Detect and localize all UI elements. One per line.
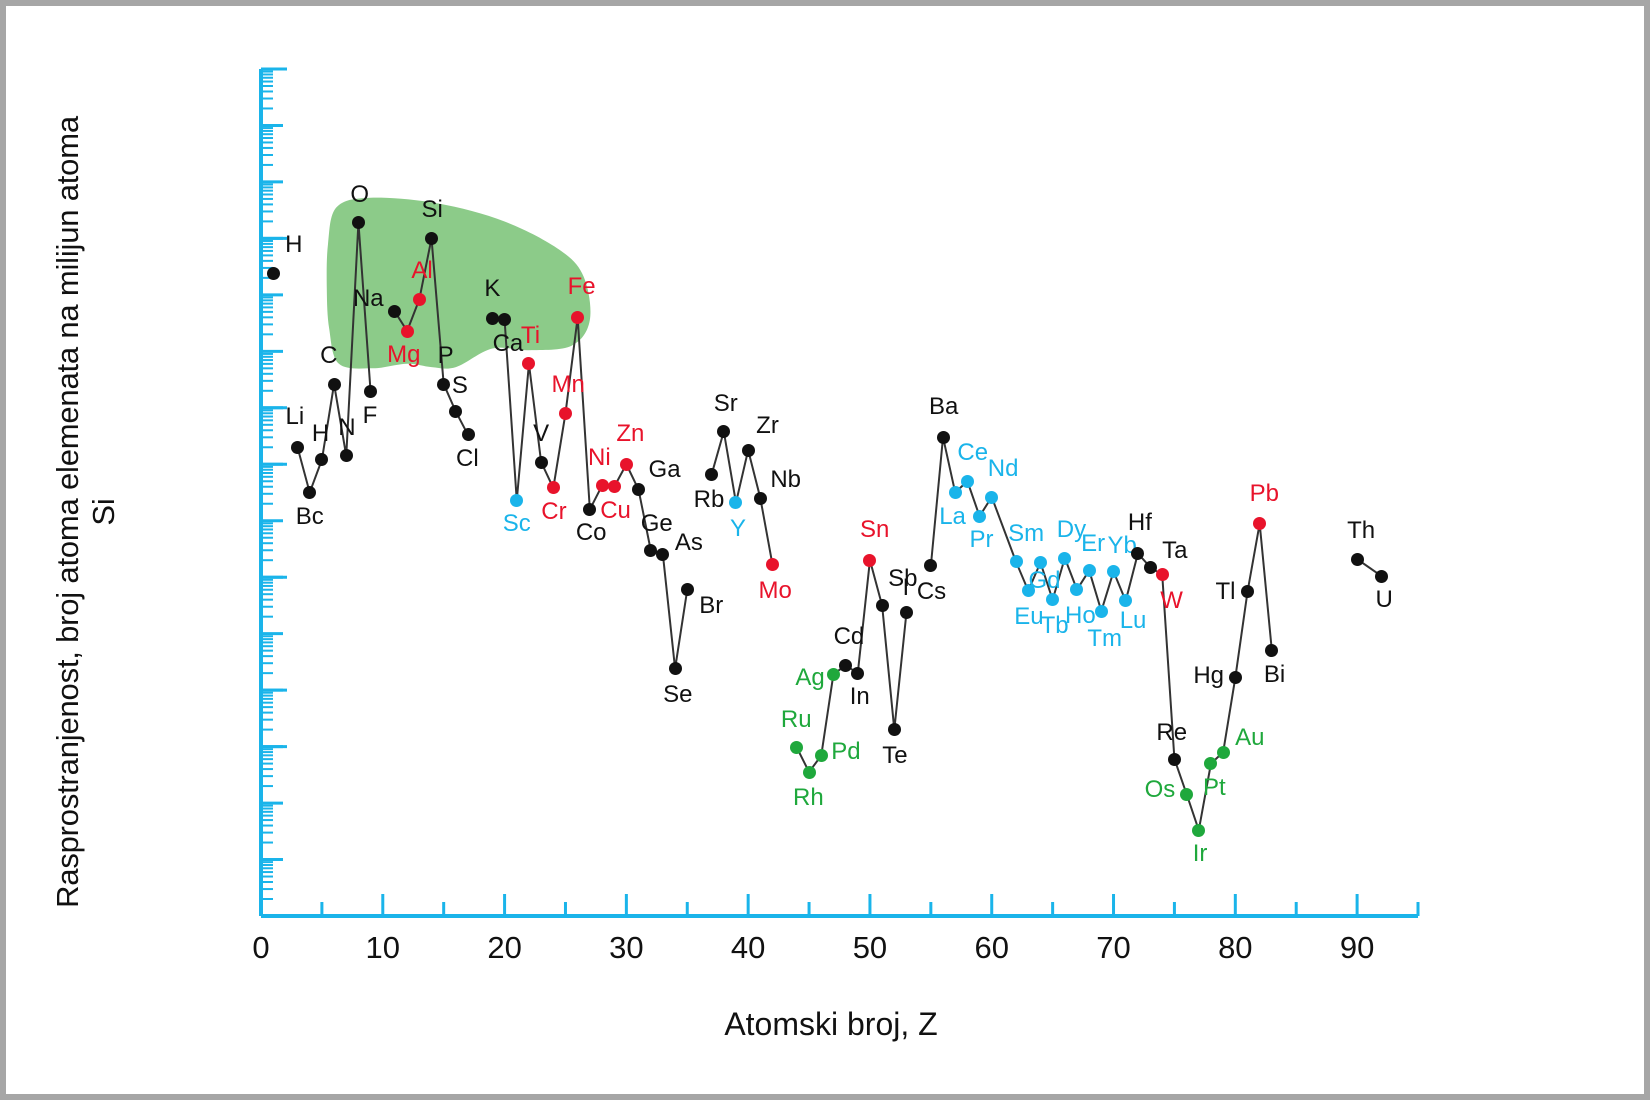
point-label-te: Te	[882, 744, 907, 768]
data-point-as	[656, 548, 669, 561]
data-point-tb	[1046, 593, 1059, 606]
point-label-sr: Sr	[714, 392, 738, 416]
data-point-cs	[924, 559, 937, 572]
data-point-ho	[1070, 583, 1083, 596]
x-tick-label: 30	[586, 930, 666, 966]
data-point-in	[851, 667, 864, 680]
point-label-au: Au	[1235, 726, 1264, 750]
data-point-ag	[827, 668, 840, 681]
data-point-zr	[742, 444, 755, 457]
data-point-yb	[1107, 565, 1120, 578]
data-point-h	[315, 453, 328, 466]
point-label-k: K	[484, 277, 500, 301]
point-label-v: V	[533, 422, 549, 446]
data-point-re	[1168, 753, 1181, 766]
point-label-ba: Ba	[929, 395, 958, 419]
data-point-cd	[839, 659, 852, 672]
point-label-as: As	[675, 531, 703, 555]
point-label-na: Na	[353, 287, 384, 311]
data-point-i	[900, 606, 913, 619]
x-tick-label: 20	[465, 930, 545, 966]
data-point-w	[1156, 568, 1169, 581]
point-label-lu: Lu	[1120, 609, 1147, 633]
point-label-eu: Eu	[1014, 605, 1043, 629]
data-point-tl	[1241, 585, 1254, 598]
point-label-ca: Ca	[493, 332, 524, 356]
point-label-u: U	[1375, 588, 1392, 612]
data-point-pt	[1204, 757, 1217, 770]
point-label-zr: Zr	[756, 414, 779, 438]
data-point-pr	[973, 510, 986, 523]
point-label-ru: Ru	[781, 708, 812, 732]
data-point-pd	[815, 749, 828, 762]
data-point-se	[669, 662, 682, 675]
data-point-lu	[1119, 594, 1132, 607]
point-label-fe: Fe	[568, 275, 596, 299]
point-label-cr: Cr	[541, 500, 566, 524]
data-point-cu	[608, 480, 621, 493]
data-point-c	[328, 378, 341, 391]
data-point-ni	[596, 479, 609, 492]
point-label-nb: Nb	[770, 468, 801, 492]
data-point-ga	[632, 483, 645, 496]
data-point-rb	[705, 468, 718, 481]
data-point-dy	[1058, 552, 1071, 565]
data-point-h	[267, 267, 280, 280]
data-point-ru	[790, 741, 803, 754]
point-label-nd: Nd	[988, 457, 1019, 481]
data-point-la	[949, 486, 962, 499]
data-point-cr	[547, 481, 560, 494]
point-label-ag: Ag	[795, 666, 824, 690]
data-point-th	[1351, 553, 1364, 566]
point-label-n: N	[338, 416, 355, 440]
data-point-v	[535, 456, 548, 469]
data-point-bc	[303, 486, 316, 499]
data-point-er	[1083, 564, 1096, 577]
data-point-li	[291, 441, 304, 454]
point-label-ce: Ce	[957, 441, 988, 465]
point-label-se: Se	[663, 683, 692, 707]
data-point-sb	[876, 599, 889, 612]
data-point-pb	[1253, 517, 1266, 530]
y-axis-title: Rasprostranjenost, broj atoma elemenata …	[50, 102, 122, 922]
data-point-os	[1180, 788, 1193, 801]
data-point-o	[352, 216, 365, 229]
data-point-hf	[1131, 547, 1144, 560]
x-tick-label: 60	[952, 930, 1032, 966]
data-point-sn	[863, 554, 876, 567]
point-label-cl: Cl	[456, 447, 479, 471]
data-point-te	[888, 723, 901, 736]
data-point-al	[413, 293, 426, 306]
point-label-ho: Ho	[1065, 604, 1096, 628]
point-label-ta: Ta	[1162, 539, 1187, 563]
point-label-la: La	[939, 505, 966, 529]
x-tick-label: 80	[1195, 930, 1275, 966]
data-point-zn	[620, 458, 633, 471]
data-point-bi	[1265, 644, 1278, 657]
point-label-th: Th	[1347, 519, 1375, 543]
data-point-au	[1217, 746, 1230, 759]
point-label-rh: Rh	[793, 786, 824, 810]
point-label-h: H	[312, 422, 329, 446]
point-label-sc: Sc	[503, 512, 531, 536]
point-label-tm: Tm	[1087, 627, 1122, 651]
point-label-h: H	[285, 233, 302, 257]
data-point-ca	[498, 313, 511, 326]
point-label-bi: Bi	[1264, 663, 1285, 687]
point-label-hf: Hf	[1128, 511, 1152, 535]
point-label-sm: Sm	[1008, 522, 1044, 546]
point-label-pt: Pt	[1203, 776, 1226, 800]
point-label-s: S	[452, 374, 468, 398]
point-label-al: Al	[411, 259, 432, 283]
point-label-cu: Cu	[600, 499, 631, 523]
data-point-s	[449, 405, 462, 418]
point-label-f: F	[363, 404, 378, 428]
point-label-er: Er	[1081, 532, 1105, 556]
point-label-w: W	[1160, 589, 1183, 613]
point-label-mo: Mo	[759, 579, 792, 603]
data-point-sc	[510, 494, 523, 507]
data-point-hg	[1229, 671, 1242, 684]
data-point-mg	[401, 325, 414, 338]
point-label-ir: Ir	[1193, 842, 1208, 866]
point-label-sn: Sn	[860, 518, 889, 542]
data-point-mn	[559, 407, 572, 420]
data-point-sr	[717, 425, 730, 438]
point-label-p: P	[438, 344, 454, 368]
chart-frame: HLiBcHCNOFNaMgAlSiPSClKCaScTiVCrMnFeCoNi…	[0, 0, 1650, 1100]
point-label-o: O	[350, 183, 369, 207]
point-label-i: I	[902, 576, 909, 600]
data-point-ba	[937, 431, 950, 444]
data-point-ta	[1144, 561, 1157, 574]
data-point-nb	[754, 492, 767, 505]
data-point-n	[340, 449, 353, 462]
point-label-mg: Mg	[387, 343, 420, 367]
data-point-rh	[803, 766, 816, 779]
point-label-hg: Hg	[1193, 664, 1224, 688]
point-label-pr: Pr	[970, 528, 994, 552]
point-label-rb: Rb	[694, 488, 725, 512]
point-label-pb: Pb	[1250, 482, 1279, 506]
point-label-bc: Bc	[296, 505, 324, 529]
data-point-nd	[985, 491, 998, 504]
x-tick-label: 40	[708, 930, 788, 966]
data-point-p	[437, 378, 450, 391]
point-label-tl: Tl	[1215, 580, 1235, 604]
point-label-c: C	[320, 344, 337, 368]
point-label-li: Li	[286, 405, 305, 429]
x-tick-label: 10	[343, 930, 423, 966]
x-axis-title: Atomski broj, Z	[6, 1006, 1650, 1043]
point-label-zn: Zn	[616, 422, 644, 446]
point-label-gd: Gd	[1028, 569, 1060, 593]
data-point-mo	[766, 558, 779, 571]
x-tick-label: 70	[1074, 930, 1154, 966]
x-tick-label: 0	[221, 930, 301, 966]
data-point-fe	[571, 311, 584, 324]
data-point-y	[729, 496, 742, 509]
point-label-cs: Cs	[917, 580, 946, 604]
data-point-tm	[1095, 605, 1108, 618]
point-label-re: Re	[1156, 721, 1187, 745]
data-point-ir	[1192, 824, 1205, 837]
point-label-ge: Ge	[641, 512, 673, 536]
data-point-br	[681, 583, 694, 596]
abundance-scatter-plot: HLiBcHCNOFNaMgAlSiPSClKCaScTiVCrMnFeCoNi…	[6, 6, 1650, 1106]
point-label-cd: Cd	[834, 625, 865, 649]
data-point-na	[388, 305, 401, 318]
point-label-ni: Ni	[588, 446, 611, 470]
point-label-pd: Pd	[831, 740, 860, 764]
point-label-y: Y	[730, 517, 746, 541]
data-point-k	[486, 312, 499, 325]
data-point-f	[364, 385, 377, 398]
data-point-ge	[644, 544, 657, 557]
data-point-sm	[1010, 555, 1023, 568]
x-tick-label: 50	[830, 930, 910, 966]
point-label-mn: Mn	[551, 373, 584, 397]
x-tick-label: 90	[1317, 930, 1397, 966]
data-point-ce	[961, 475, 974, 488]
data-point-ti	[522, 357, 535, 370]
point-label-ti: Ti	[521, 324, 540, 348]
point-label-ga: Ga	[649, 458, 681, 482]
data-point-co	[583, 503, 596, 516]
data-point-u	[1375, 570, 1388, 583]
data-point-cl	[462, 428, 475, 441]
point-label-br: Br	[699, 594, 723, 618]
point-label-co: Co	[576, 521, 607, 545]
point-label-si: Si	[422, 198, 443, 222]
data-point-si	[425, 232, 438, 245]
point-label-in: In	[850, 685, 870, 709]
point-label-os: Os	[1145, 778, 1176, 802]
